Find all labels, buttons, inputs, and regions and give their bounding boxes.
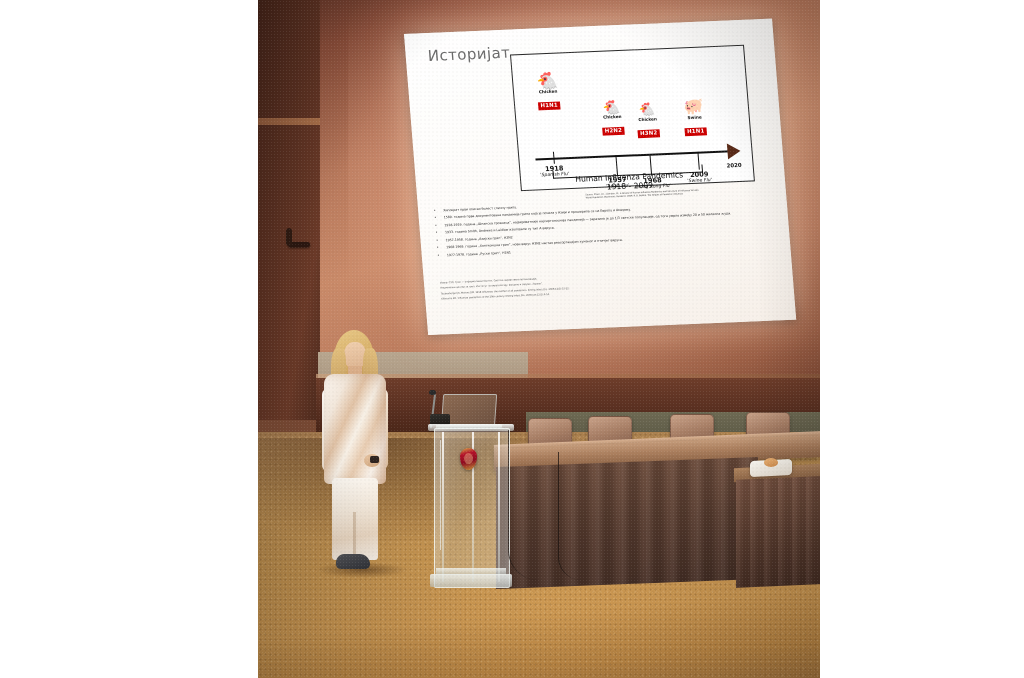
lectern-base [430,574,512,587]
timeline-axis [535,150,731,160]
table-cable [558,452,581,580]
microphone-head-icon [429,390,436,395]
door-handle-base [286,228,292,246]
conference-photo: Историјат 🐔 Chicken H1N1 1918 'Spanish F… [258,0,820,678]
tray-item [764,458,778,467]
event-subtype: H1N1 [685,128,707,136]
door-trim [258,118,320,125]
presenter-shoes [336,554,370,569]
event-subtype: H3N2 [638,130,660,138]
timeline-event: 🐔 Chicken H3N2 [623,101,672,141]
slide-surface: Историјат 🐔 Chicken H1N1 1918 'Spanish F… [404,19,796,335]
slide-bullet-list: Хипократ први описао болест сличну грипу… [434,194,785,261]
event-subtype: H2N2 [602,127,624,135]
slide-title: Историјат [427,44,511,65]
influenza-timeline-figure: 🐔 Chicken H1N1 1918 'Spanish Flu' 🐔 Chic… [510,45,755,191]
event-animal: Chicken [624,116,670,123]
presentation-clicker[interactable] [370,456,379,463]
photo-page: Историјат 🐔 Chicken H1N1 1918 'Spanish F… [0,0,1024,678]
event-subtype: H1N1 [538,102,560,110]
presenter [306,330,404,576]
event-animal: Chicken [522,88,574,95]
timeline-event: 🐔 Chicken H1N1 [521,73,576,113]
timeline-arrow-icon [727,143,741,159]
projection-screen[interactable]: Историјат 🐔 Chicken H1N1 1918 'Spanish F… [404,19,796,335]
side-table-skirt-pleats [736,476,820,588]
lectern-edge-right [498,432,500,582]
power-cable [508,430,539,580]
presenter-coat [324,374,386,484]
timeline-event: 🐖 Swine H1N1 [669,99,720,139]
audio-cable [440,440,467,550]
event-animal: Swine [670,114,718,121]
slide-footnotes: Извор: СЗО, Грип — информативни билтен, … [440,268,742,302]
presenter-trousers-seam [353,512,356,560]
timeline-end-year: 2020 [726,163,741,170]
